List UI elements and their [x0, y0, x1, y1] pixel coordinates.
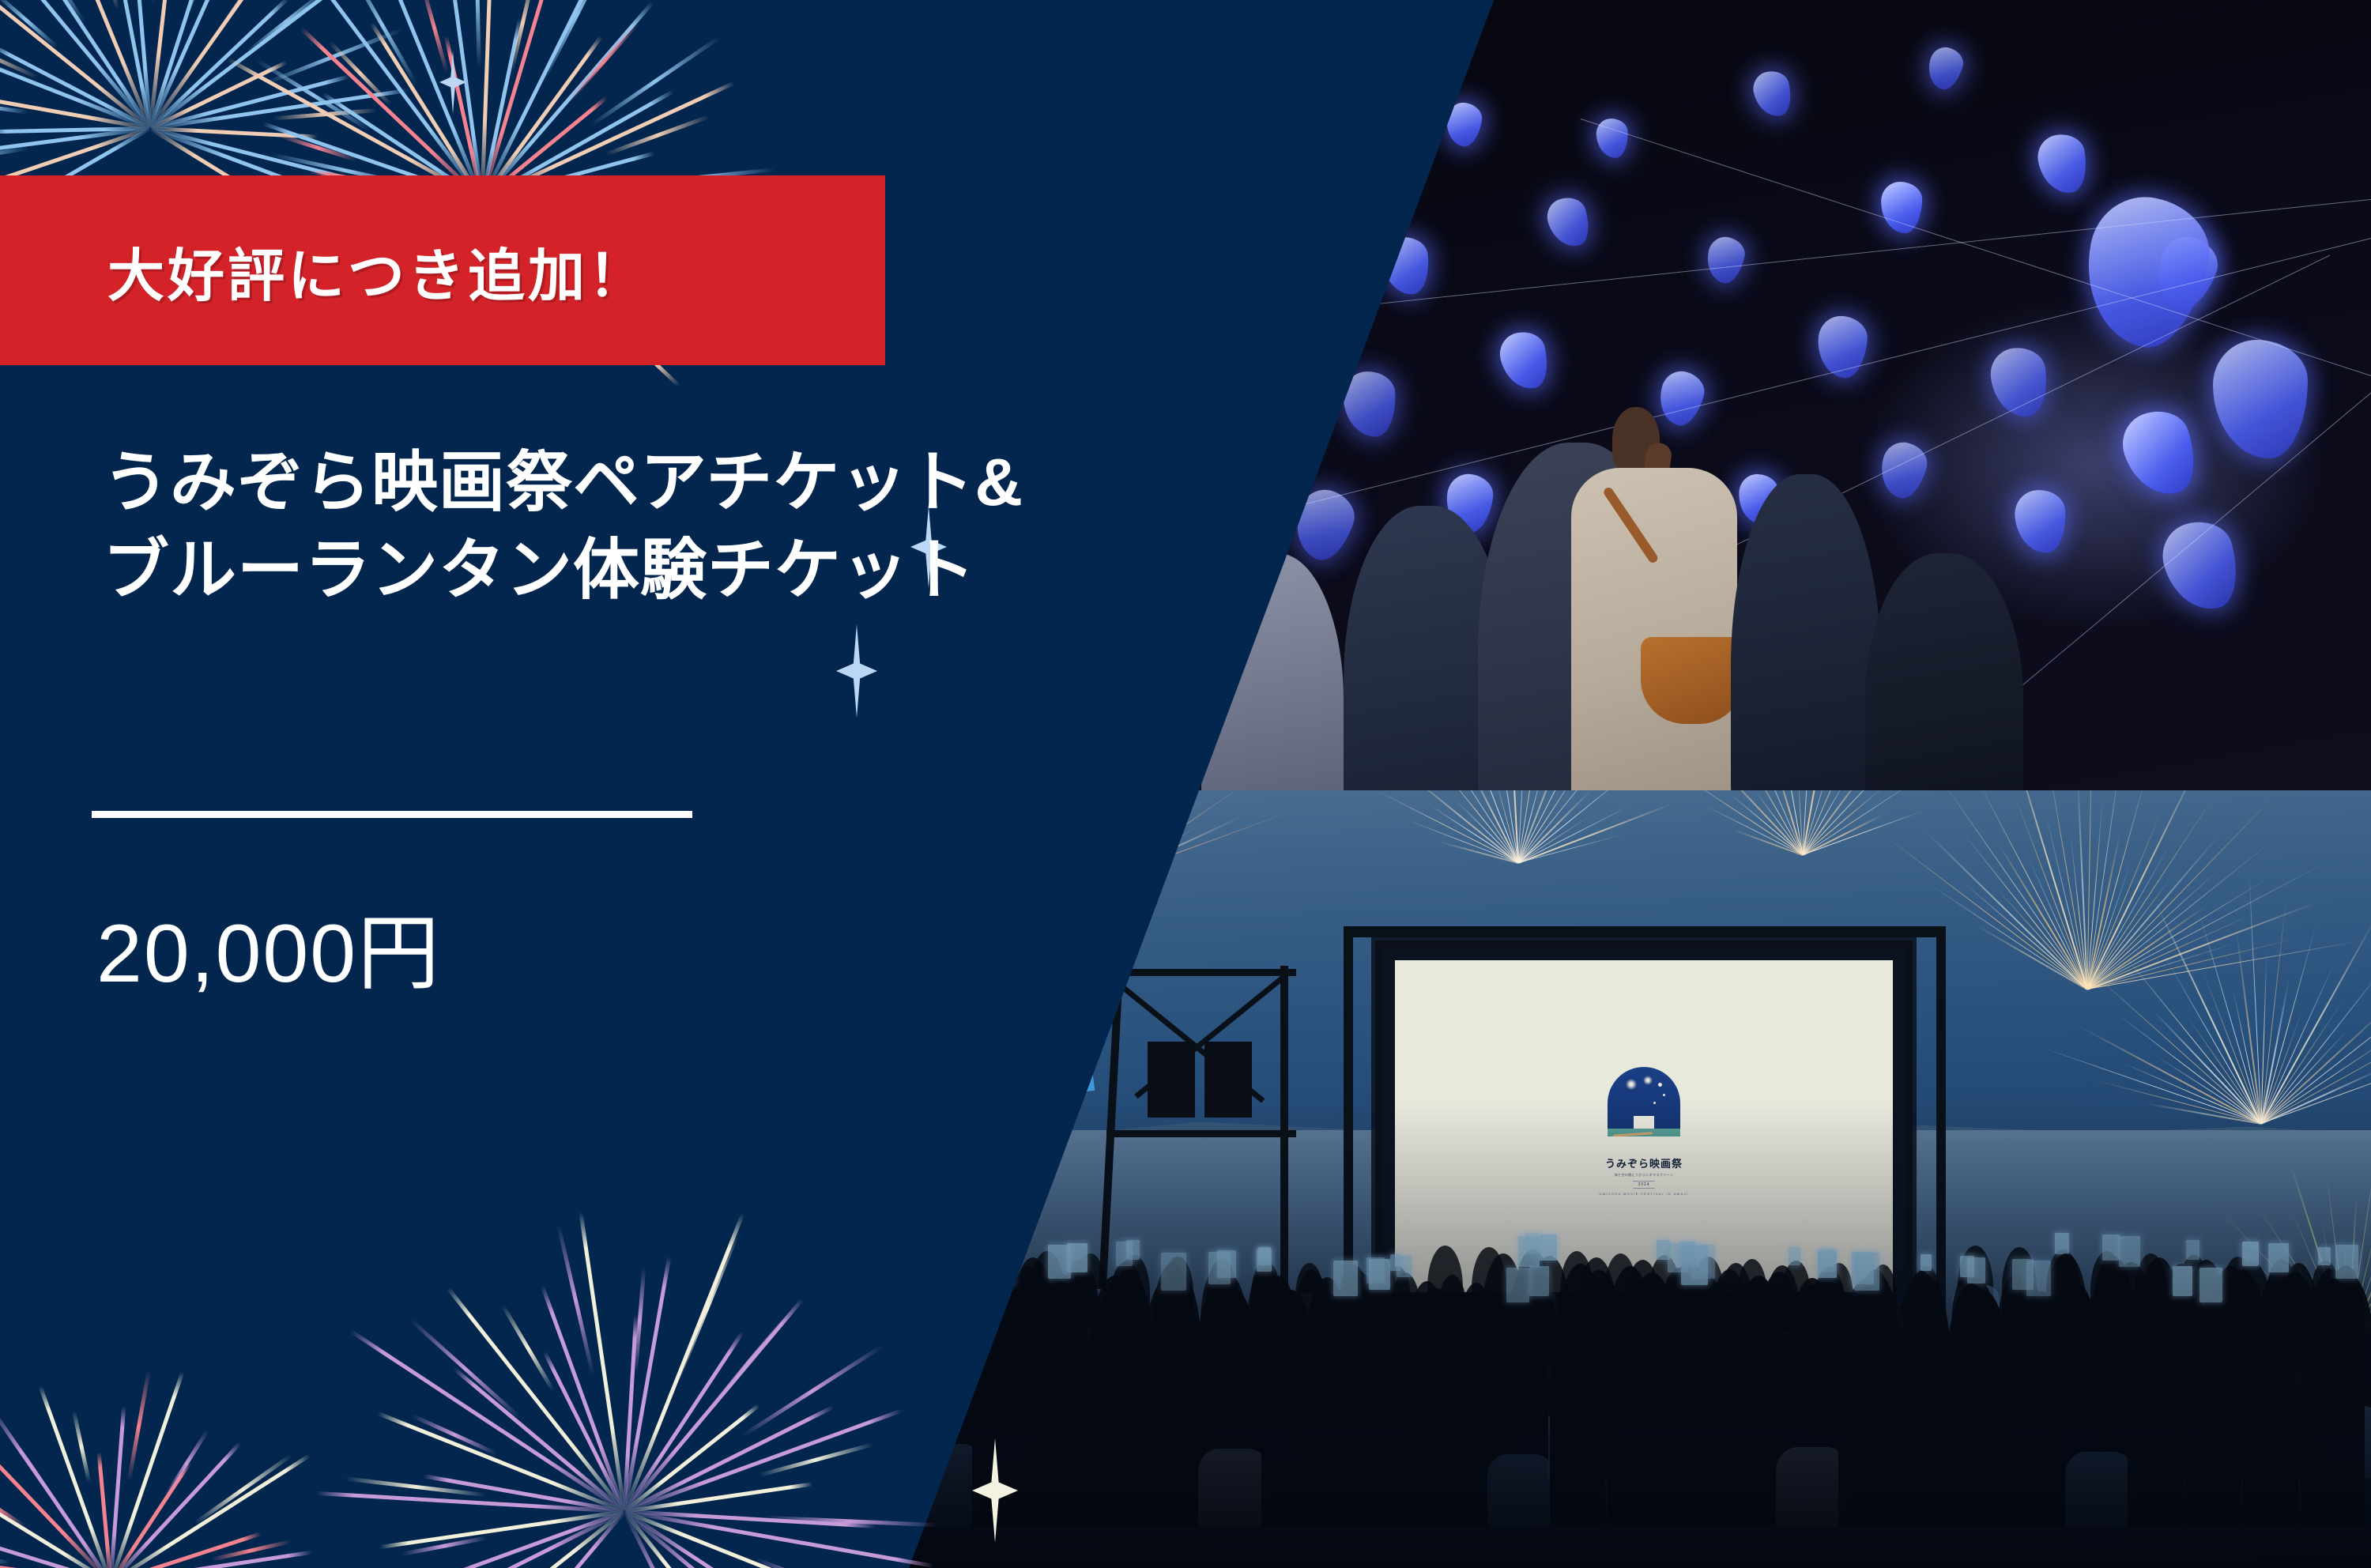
audience-crowd — [869, 1197, 2371, 1568]
price-label: 20,000円 — [96, 913, 441, 995]
promo-poster: うみぞら映画祭 海と空の間にうかぶシネマスクリーン 2024 UMIZORA M… — [0, 0, 2371, 1568]
promo-badge-label: 大好評につき追加！ — [107, 229, 648, 312]
festival-logo: うみぞら映画祭 海と空の間にうかぶシネマスクリーン 2024 UMIZORA M… — [1599, 1067, 1688, 1196]
promo-badge: 大好評につき追加！ — [0, 175, 885, 365]
festival-logo-english: UMIZORA MOVIE FESTIVAL IN AWAJI — [1599, 1192, 1688, 1196]
festival-logo-year: 2024 — [1633, 1181, 1654, 1189]
page-title: うみぞら映画祭ペアチケット& ブルーランタン体験チケット — [103, 439, 1336, 614]
page-title-line-2: ブルーランタン体験チケット — [103, 526, 1336, 614]
title-divider — [92, 811, 692, 818]
festival-logo-title: うみぞら映画祭 — [1605, 1155, 1683, 1170]
page-title-line-1: うみぞら映画祭ペアチケット& — [103, 439, 1336, 526]
logo-arch-icon — [1608, 1067, 1680, 1136]
festival-logo-subtitle: 海と空の間にうかぶシネマスクリーン — [1615, 1173, 1674, 1178]
